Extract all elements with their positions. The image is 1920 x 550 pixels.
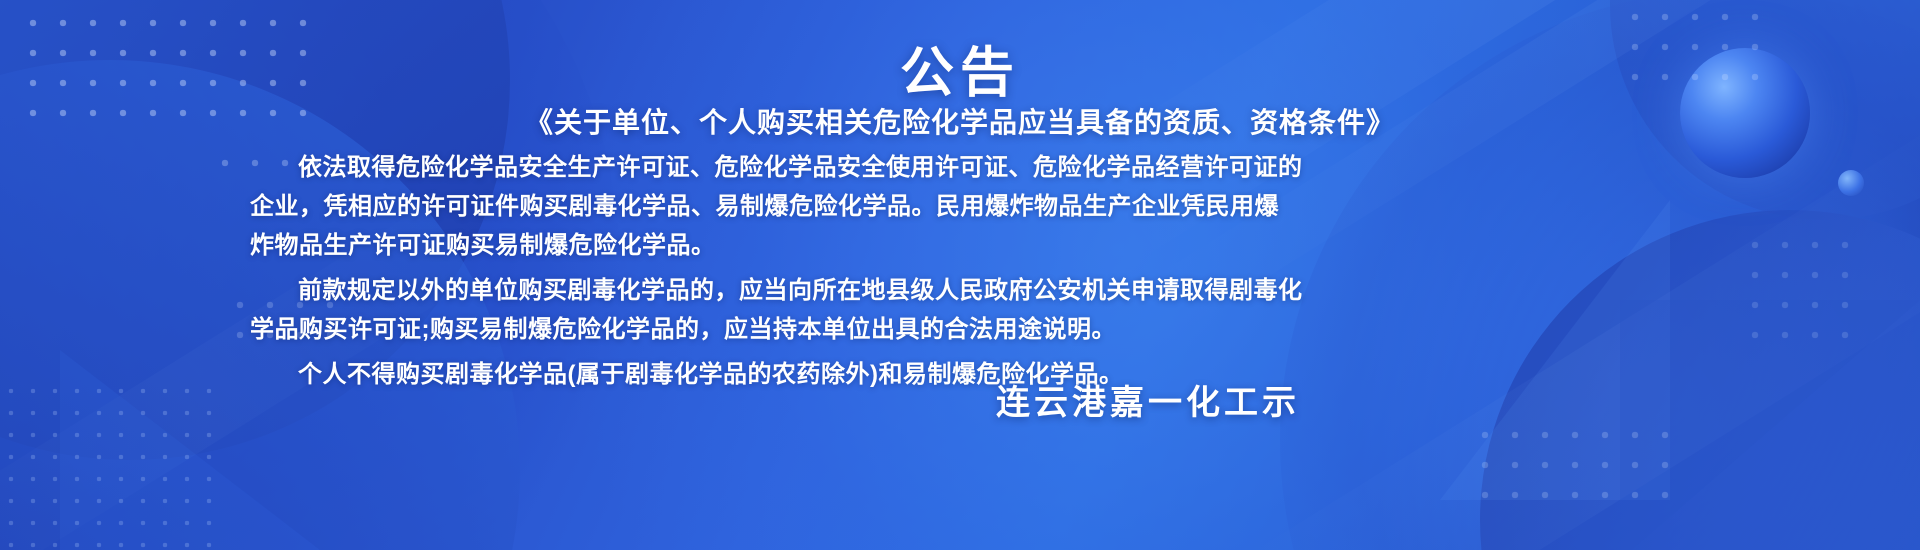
body-line: 依法取得危险化学品安全生产许可证、危险化学品安全使用许可证、危险化学品经营许可证… xyxy=(250,148,1320,187)
announcement-body: 依法取得危险化学品安全生产许可证、危险化学品安全使用许可证、危险化学品经营许可证… xyxy=(250,148,1320,394)
body-line: 前款规定以外的单位购买剧毒化学品的，应当向所在地县级人民政府公安机关申请取得剧毒… xyxy=(250,271,1320,310)
paragraph-2: 前款规定以外的单位购买剧毒化学品的，应当向所在地县级人民政府公安机关申请取得剧毒… xyxy=(250,271,1320,349)
announcement-signature: 连云港嘉一化工示 xyxy=(0,375,1300,424)
announcement-banner: 公告 《关于单位、个人购买相关危险化学品应当具备的资质、资格条件》 依法取得危险… xyxy=(0,0,1920,550)
paragraph-1: 依法取得危险化学品安全生产许可证、危险化学品安全使用许可证、危险化学品经营许可证… xyxy=(250,148,1320,265)
body-line: 炸物品生产许可证购买易制爆危险化学品。 xyxy=(250,226,1320,265)
banner-content: 公告 《关于单位、个人购买相关危险化学品应当具备的资质、资格条件》 依法取得危险… xyxy=(0,0,1920,550)
body-line: 学品购买许可证;购买易制爆危险化学品的，应当持本单位出具的合法用途说明。 xyxy=(250,310,1320,349)
announcement-title: 公告 xyxy=(0,28,1920,107)
body-line: 企业，凭相应的许可证件购买剧毒化学品、易制爆危险化学品。民用爆炸物品生产企业凭民… xyxy=(250,187,1320,226)
announcement-subtitle: 《关于单位、个人购买相关危险化学品应当具备的资质、资格条件》 xyxy=(0,101,1920,141)
